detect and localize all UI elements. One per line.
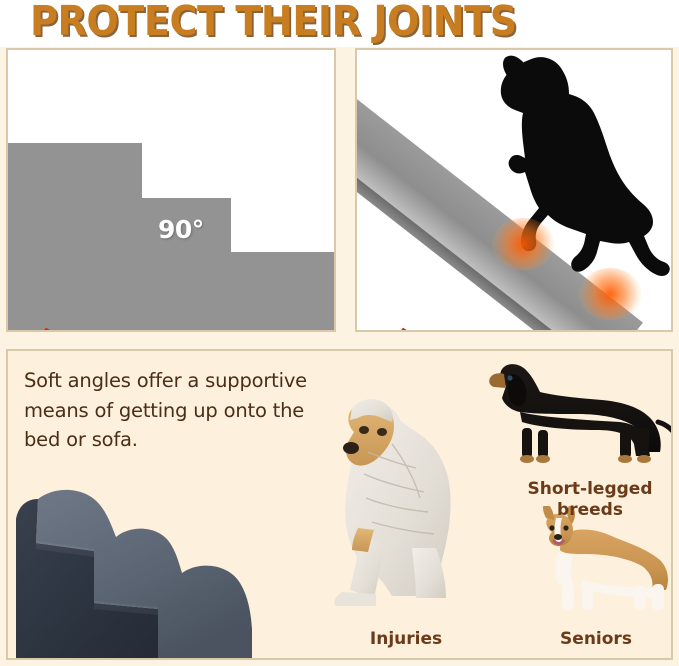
photo-dachshund (460, 356, 673, 481)
caption-line-1: Short-legged (500, 479, 673, 500)
red-x-icon-ramp: ✖ (372, 319, 420, 332)
panel-hard-steps: 90° ✖ (6, 48, 336, 332)
angle-label: 90° (158, 215, 204, 244)
solution-body-text: Soft angles offer a supportive means of … (24, 366, 324, 455)
panel-steep-ramp: ✖ (355, 48, 673, 332)
caption-seniors: Seniors (516, 629, 673, 650)
step-block-upper (8, 143, 142, 203)
caption-short-legged-breeds: Short-legged breeds (500, 479, 673, 522)
photo-corgi (512, 506, 673, 631)
title-bar: PROTECT THEIR JOINTS (0, 0, 679, 47)
caption-line-2: breeds (500, 500, 673, 521)
angle-arc-icon (215, 190, 261, 250)
panel-solution: Soft angles offer a supportive means of … (6, 349, 673, 660)
caption-injuries: Injuries (326, 629, 486, 650)
dog-silhouette-icon (457, 52, 673, 282)
page-title: PROTECT THEIR JOINTS (30, 0, 517, 45)
foam-pet-steps-product (8, 481, 258, 660)
red-x-icon-steps: ✖ (15, 319, 63, 332)
